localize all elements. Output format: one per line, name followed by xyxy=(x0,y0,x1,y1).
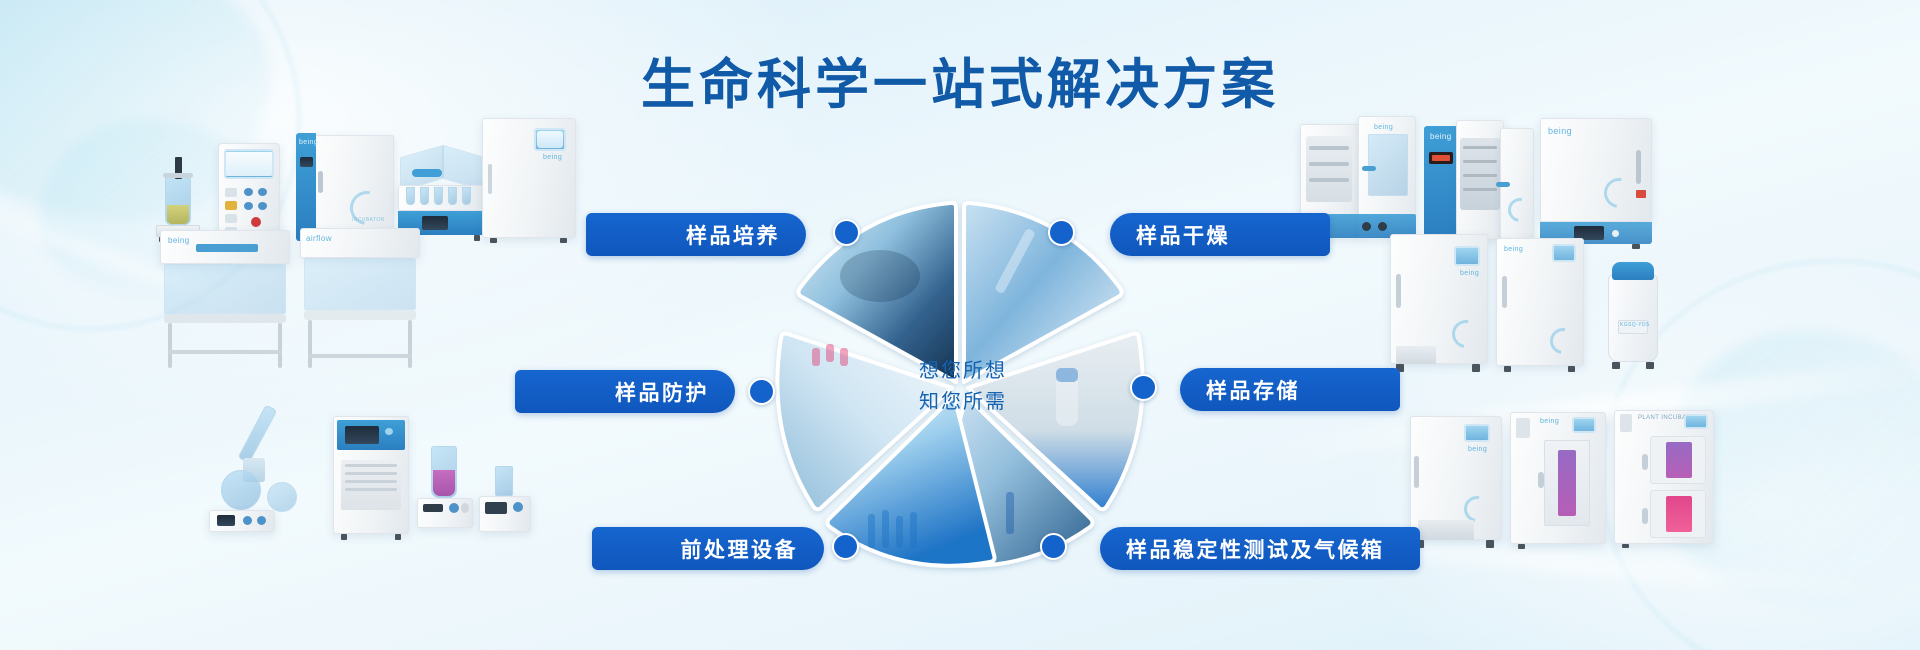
group-culture: being INCUBATOR being xyxy=(150,118,510,243)
rotary-evaporator xyxy=(205,404,325,540)
category-pill-drying[interactable]: 样品干燥 xyxy=(1110,213,1330,256)
center-slogan: 想您所想 知您所需 xyxy=(878,356,1048,418)
connector-node-culture[interactable] xyxy=(833,219,860,246)
group-drying: being being being xyxy=(1300,108,1660,248)
group-stability: being being PLANT INCUBATOR xyxy=(1410,408,1720,548)
connector-node-storage[interactable] xyxy=(1130,374,1157,401)
plant-incubator: PLANT INCUBATOR xyxy=(1614,410,1714,548)
climate-chamber: being xyxy=(1510,412,1606,548)
high-temp-oven: being xyxy=(1540,118,1652,248)
ult-freezer: being xyxy=(1390,234,1488,372)
slogan-line-2: 知您所需 xyxy=(878,387,1048,418)
co2-incubator: being xyxy=(482,118,576,243)
forced-air-oven: being xyxy=(1424,120,1534,248)
chiller xyxy=(333,416,409,540)
laminar-flow-hood: being xyxy=(160,230,290,368)
group-protect: being airflow xyxy=(160,228,460,368)
category-pill-storage[interactable]: 样品存储 xyxy=(1180,368,1400,411)
petal-detail-4 xyxy=(1056,368,1078,382)
lab-refrigerator: being xyxy=(1496,236,1584,372)
petal-detail-7 xyxy=(1006,492,1014,534)
category-pill-culture[interactable]: 样品培养 xyxy=(586,213,806,256)
slogan-line-1: 想您所想 xyxy=(878,356,1048,387)
ln2-tank: KGSQ-YDS xyxy=(1602,262,1664,372)
magnetic-stirrer xyxy=(417,440,473,540)
connector-node-protect[interactable] xyxy=(748,378,775,405)
incubator: being INCUBATOR xyxy=(296,133,394,243)
category-pill-prep[interactable]: 前处理设备 xyxy=(592,527,824,570)
stability-chamber: being xyxy=(1410,410,1502,548)
connector-node-drying[interactable] xyxy=(1048,219,1075,246)
petal-detail-3 xyxy=(1056,376,1078,426)
page-title: 生命科学一站式解决方案 xyxy=(0,40,1920,119)
category-pill-protect[interactable]: 样品防护 xyxy=(515,370,735,413)
category-pill-stability[interactable]: 样品稳定性测试及气候箱 xyxy=(1100,527,1420,570)
group-prep xyxy=(205,400,525,540)
petal-detail-1 xyxy=(840,250,920,302)
connector-node-prep[interactable] xyxy=(832,533,859,560)
connector-node-stability[interactable] xyxy=(1040,533,1067,560)
biosafety-cabinet: airflow xyxy=(300,228,420,368)
group-storage: being being KGSQ-YDS xyxy=(1390,232,1690,372)
heating-mantle xyxy=(479,466,531,540)
